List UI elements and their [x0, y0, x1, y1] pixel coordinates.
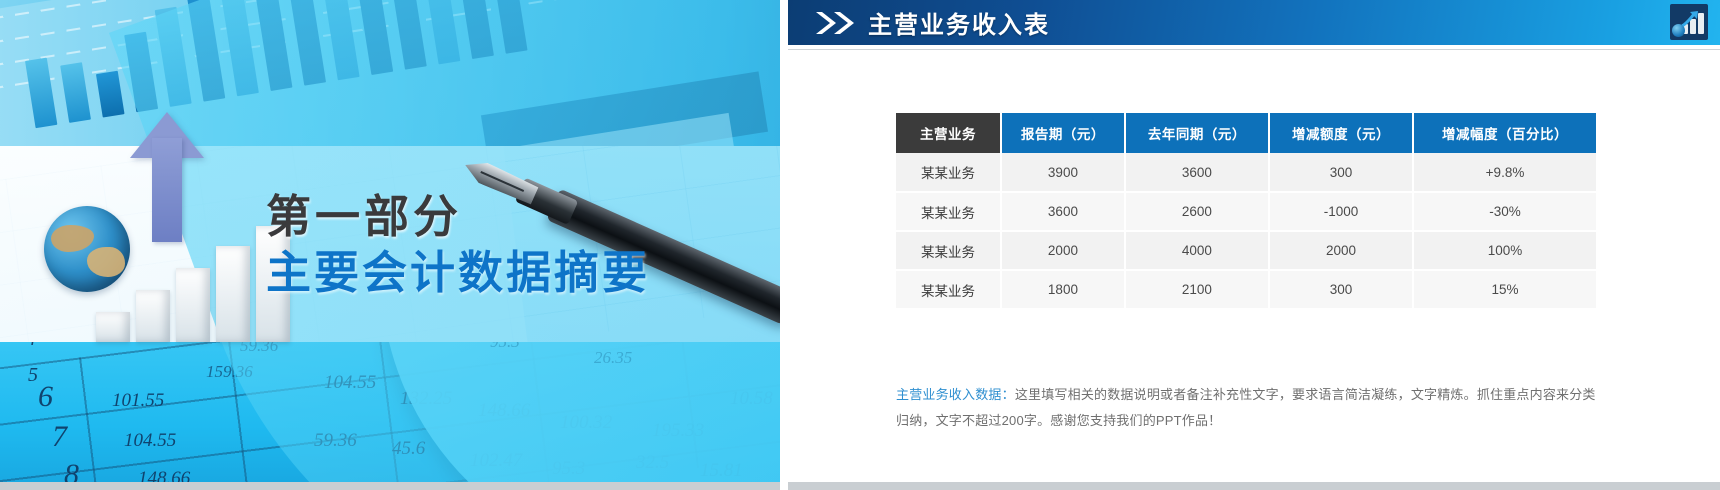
- bg-number: 104.55: [324, 372, 376, 394]
- cell-last-year: 4000: [1125, 231, 1269, 270]
- cell-business: 某某业务: [896, 192, 1001, 231]
- cell-change-percent: -30%: [1413, 192, 1596, 231]
- cell-change-amount: 2000: [1269, 231, 1413, 270]
- col-header-change-amount: 增减额度（元）: [1269, 113, 1413, 153]
- cell-business: 某某业务: [896, 153, 1001, 192]
- bg-number: 45.6: [392, 438, 425, 460]
- cell-report-period: 3600: [1001, 192, 1125, 231]
- cell-business: 某某业务: [896, 270, 1001, 309]
- cell-last-year: 3600: [1125, 153, 1269, 192]
- section-heading-block: 第一部分 主要会计数据摘要: [266, 192, 650, 299]
- cell-business: 某某业务: [896, 231, 1001, 270]
- right-slide-footer-bar: [788, 482, 1720, 490]
- left-slide-footer-bar: [0, 482, 780, 490]
- note-label: 主营业务收入数据: [896, 387, 1002, 402]
- revenue-table: 主营业务 报告期（元） 去年同期（元） 增减额度（元） 增减幅度（百分比） 某某…: [896, 113, 1596, 310]
- table-head: 主营业务 报告期（元） 去年同期（元） 增减额度（元） 增减幅度（百分比）: [896, 113, 1596, 153]
- slide-title: 主营业务收入表: [868, 5, 1050, 40]
- col-header-change-percent: 增减幅度（百分比）: [1413, 113, 1596, 153]
- table-slide: 主营业务收入表 主营业务: [780, 0, 1720, 490]
- table-header-row: 主营业务 报告期（元） 去年同期（元） 增减额度（元） 增减幅度（百分比）: [896, 113, 1596, 153]
- col-header-business: 主营业务: [896, 113, 1001, 153]
- cell-report-period: 3900: [1001, 153, 1125, 192]
- left-slide-canvas: 4 5 6 7 8 101.55 104.55 148.66 59.36 159…: [0, 0, 780, 482]
- cell-change-amount: 300: [1269, 270, 1413, 309]
- bg-number: 95.3: [490, 342, 520, 352]
- bg-number: 104.55: [124, 430, 176, 452]
- section-title: 主要会计数据摘要: [266, 246, 650, 299]
- top-chart-photo: [0, 0, 780, 146]
- cell-change-percent: 100%: [1413, 231, 1596, 270]
- table-body: 某某业务 3900 3600 300 +9.8% 某某业务 3600 2600 …: [896, 153, 1596, 309]
- cell-change-amount: 300: [1269, 153, 1413, 192]
- note-separator: ：: [1002, 387, 1015, 402]
- cell-change-amount: -1000: [1269, 192, 1413, 231]
- slide-content: 主营业务 报告期（元） 去年同期（元） 增减额度（元） 增减幅度（百分比） 某某…: [788, 50, 1720, 482]
- bg-number: 6: [38, 380, 53, 414]
- bg-number: 59.36: [240, 342, 278, 356]
- cell-report-period: 2000: [1001, 231, 1125, 270]
- cell-last-year: 2100: [1125, 270, 1269, 309]
- bottom-spreadsheet-photo: 4 5 6 7 8 101.55 104.55 148.66 59.36 159…: [0, 342, 780, 482]
- right-slide-canvas: 主营业务收入表 主营业务: [788, 0, 1720, 482]
- table-row: 某某业务 3900 3600 300 +9.8%: [896, 153, 1596, 192]
- cell-report-period: 1800: [1001, 270, 1125, 309]
- slide-pair: 4 5 6 7 8 101.55 104.55 148.66 59.36 159…: [0, 0, 1720, 490]
- bg-number: 159.36: [206, 362, 253, 382]
- bg-number: 148.66: [138, 468, 190, 482]
- growth-chart-icon: [1670, 4, 1708, 40]
- bg-number: 59.36: [314, 430, 357, 452]
- double-chevron-right-icon: [814, 10, 858, 36]
- slide-title-bar: 主营业务收入表: [788, 0, 1720, 45]
- bg-number: 7: [52, 420, 67, 454]
- bg-number: 26.35: [594, 348, 632, 368]
- col-header-report-period: 报告期（元）: [1001, 113, 1125, 153]
- table-row: 某某业务 1800 2100 300 15%: [896, 270, 1596, 309]
- cell-change-percent: 15%: [1413, 270, 1596, 309]
- bg-number: 8: [64, 458, 79, 482]
- note-paragraph: 主营业务收入数据：这里填写相关的数据说明或者备注补充性文字，要求语言简洁凝练，文…: [896, 382, 1596, 434]
- table-row: 某某业务 3600 2600 -1000 -30%: [896, 192, 1596, 231]
- cell-change-percent: +9.8%: [1413, 153, 1596, 192]
- bg-number: 5: [28, 364, 38, 387]
- bg-number: 101.55: [112, 390, 164, 412]
- section-number: 第一部分: [266, 192, 650, 242]
- col-header-last-year: 去年同期（元）: [1125, 113, 1269, 153]
- section-divider-slide: 4 5 6 7 8 101.55 104.55 148.66 59.36 159…: [0, 0, 780, 490]
- table-row: 某某业务 2000 4000 2000 100%: [896, 231, 1596, 270]
- cell-last-year: 2600: [1125, 192, 1269, 231]
- bg-number: 4: [26, 342, 36, 351]
